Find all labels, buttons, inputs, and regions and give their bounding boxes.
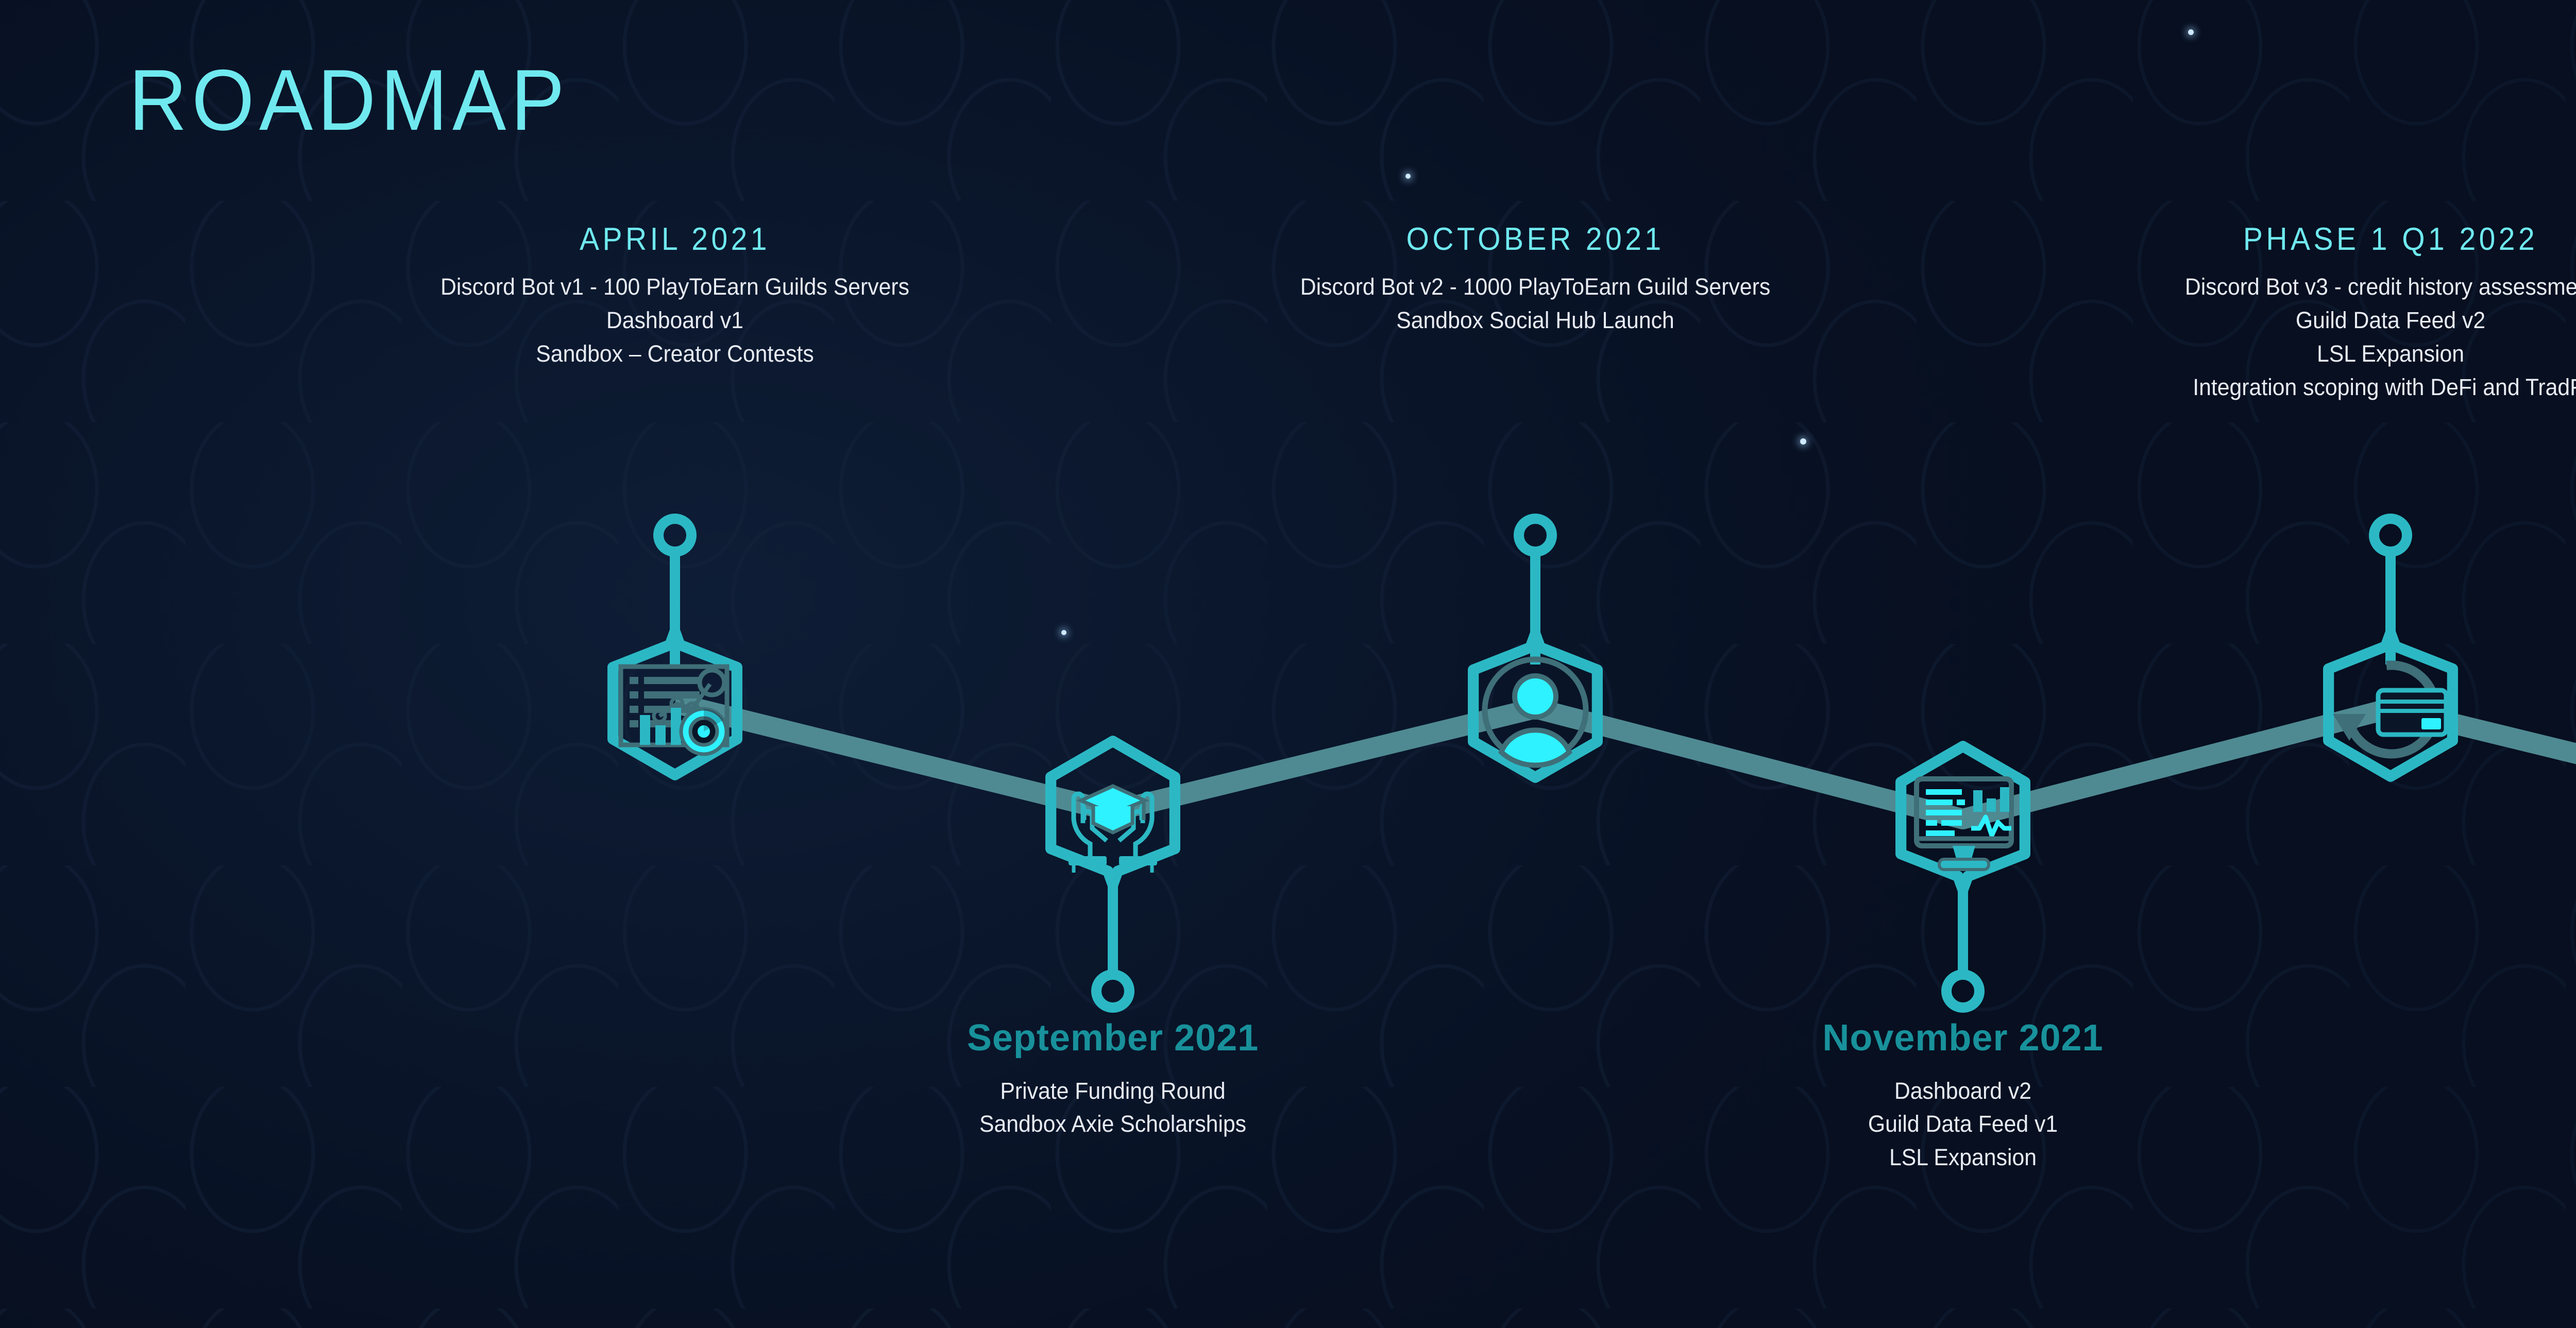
milestone-text-september-2021: September 2021 Private Funding Round San… (768, 1017, 1458, 1141)
roadmap-infographic: ROADMAP (0, 0, 2576, 1328)
milestone-detail-line: Ecosystem Fund (2490, 1141, 2576, 1174)
star-sparkle (1061, 630, 1066, 635)
milestone-detail-line: DeFi and TradFi deployment (2490, 1108, 2576, 1141)
milestone-detail-lines: Dashboard v2 Guild Data Feed v1 LSL Expa… (1635, 1075, 2291, 1174)
graduation-cap-in-hands-icon (1069, 786, 1157, 873)
milestone-detail-lines: Discord Bot v3 - credit history assessme… (2065, 270, 2576, 404)
credit-card-refresh-icon (2333, 665, 2446, 754)
milestone-detail-line: Discord Bot v3 - credit history assessme… (2065, 270, 2576, 304)
milestone-heading: Phase 2 Q3 2022 (2473, 1017, 2576, 1059)
milestone-marker-ring (1946, 975, 1979, 1008)
milestone-detail-lines: Private Funding Round Sandbox Axie Schol… (785, 1075, 1441, 1142)
milestone-detail-line: Dashboard v2 (1635, 1075, 2291, 1108)
milestone-detail-line: Sandbox Axie Scholarships (785, 1108, 1441, 1141)
star-sparkle (1405, 174, 1411, 179)
milestone-detail-line: Private Funding Round (785, 1075, 1441, 1108)
milestone-heading: APRIL 2021 (358, 222, 993, 257)
user-avatar-icon (1485, 659, 1586, 765)
milestone-detail-lines: Discord Bot v4 - automated credit issuan… (2490, 1075, 2576, 1174)
milestone-heading: OCTOBER 2021 (1218, 222, 1853, 257)
milestone-detail-lines: Discord Bot v2 - 1000 PlayToEarn Guild S… (1208, 270, 1863, 337)
milestone-detail-line: LSL Expansion (1635, 1141, 2291, 1174)
milestone-node-april-2021[interactable] (613, 519, 737, 775)
milestone-text-phase-1-q1-2022: PHASE 1 Q1 2022 Discord Bot v3 - credit … (2048, 222, 2576, 404)
milestone-detail-line: Dashboard v1 (347, 304, 1003, 337)
milestone-marker-ring (1096, 975, 1129, 1008)
milestone-detail-line: Guild Data Feed v2 (2065, 304, 2576, 337)
milestone-node-october-2021[interactable] (1473, 519, 1598, 777)
star-sparkle (2188, 29, 2194, 35)
milestone-node-phase-1-q1-2022[interactable] (2329, 519, 2453, 776)
milestone-detail-line: Sandbox – Creator Contests (347, 337, 1003, 371)
milestone-detail-line: Guild Data Feed v1 (1635, 1108, 2291, 1141)
milestone-detail-line: Discord Bot v2 - 1000 PlayToEarn Guild S… (1208, 270, 1863, 304)
milestone-marker-ring (658, 519, 691, 552)
milestone-node-november-2021[interactable] (1901, 746, 2025, 1008)
milestone-heading: PHASE 1 Q1 2022 (2075, 222, 2576, 257)
milestone-text-phase-2-q3-2022: Phase 2 Q3 2022 Discord Bot v4 - automat… (2473, 1017, 2576, 1174)
milestone-detail-lines: Discord Bot v1 - 100 PlayToEarn Guilds S… (347, 270, 1003, 370)
analytics-dashboard-icon (621, 667, 727, 754)
timeline-path (675, 665, 2576, 819)
milestone-detail-line: Integration scoping with DeFi and TradFi (2065, 371, 2576, 404)
milestone-marker-ring (1519, 519, 1552, 552)
milestone-node-september-2021[interactable] (1051, 741, 1175, 1008)
milestone-text-october-2021: OCTOBER 2021 Discord Bot v2 - 1000 PlayT… (1190, 222, 1880, 337)
milestone-text-november-2021: November 2021 Dashboard v2 Guild Data Fe… (1618, 1017, 2308, 1174)
milestone-heading: September 2021 (768, 1017, 1458, 1059)
milestone-text-april-2021: APRIL 2021 Discord Bot v1 - 100 PlayToEa… (330, 222, 1020, 371)
milestone-detail-line: LSL Expansion (2065, 337, 2576, 371)
star-sparkle (1800, 438, 1806, 445)
milestone-marker-ring (2374, 519, 2407, 552)
milestone-detail-line: Discord Bot v4 - automated credit issuan… (2490, 1075, 2576, 1108)
monitor-dashboard-icon (1917, 779, 2011, 870)
milestone-detail-line: Discord Bot v1 - 100 PlayToEarn Guilds S… (347, 270, 1003, 304)
page-title: ROADMAP (129, 57, 569, 143)
milestone-heading: November 2021 (1618, 1017, 2308, 1059)
milestone-detail-line: Sandbox Social Hub Launch (1208, 304, 1863, 337)
